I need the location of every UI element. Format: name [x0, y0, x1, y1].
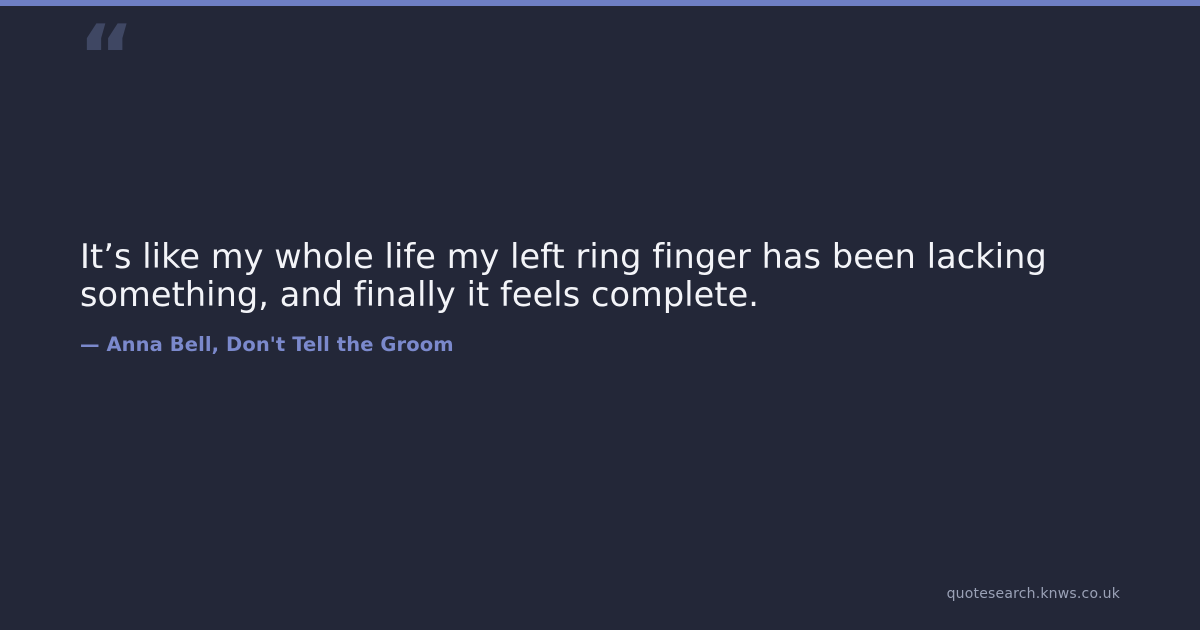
quote-text: It’s like my whole life my left ring fin…	[80, 238, 1070, 314]
quote-card: “ It’s like my whole life my left ring f…	[0, 0, 1200, 630]
quote-card-content: “ It’s like my whole life my left ring f…	[0, 0, 1200, 630]
footer-site-url: quotesearch.knws.co.uk	[947, 585, 1120, 603]
open-quote-icon: “	[78, 14, 134, 100]
quote-block: It’s like my whole life my left ring fin…	[80, 238, 1070, 357]
quote-attribution: — Anna Bell, Don't Tell the Groom	[80, 314, 1070, 357]
